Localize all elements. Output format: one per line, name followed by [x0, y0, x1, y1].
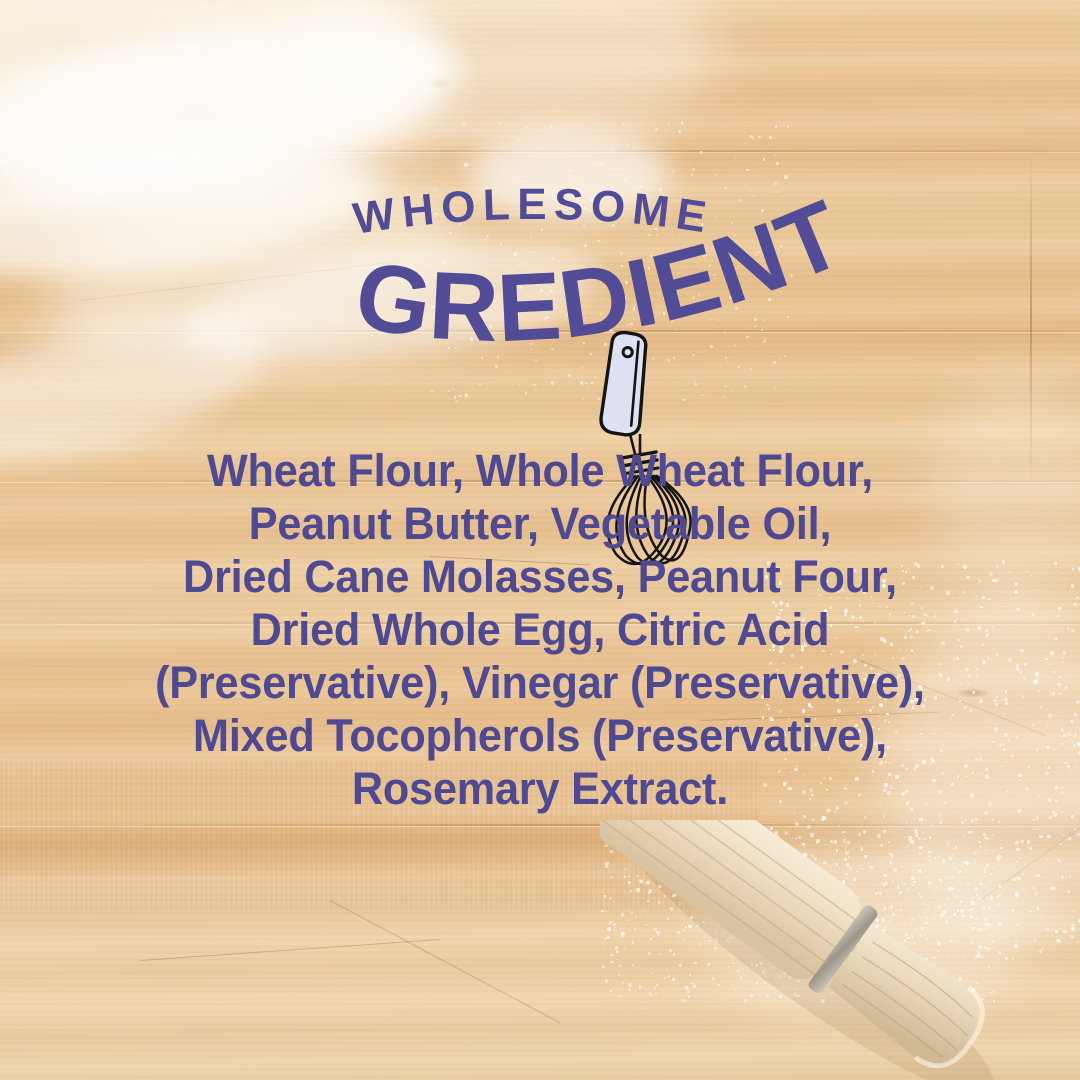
flour-speck — [1064, 762, 1067, 765]
flour-speck — [499, 121, 502, 124]
flour-speck — [716, 130, 718, 132]
flour-speck — [1065, 686, 1069, 690]
flour-speck — [1075, 577, 1076, 578]
flour-speck — [1050, 651, 1054, 655]
flour-speck — [599, 162, 602, 165]
flour-speck — [1058, 607, 1060, 609]
flour-speck — [1046, 746, 1050, 750]
flour-speck — [758, 140, 760, 142]
flour-speck — [773, 817, 774, 818]
flour-speck — [1062, 604, 1063, 605]
flour-speck — [1066, 579, 1068, 581]
flour-speck — [1048, 714, 1052, 718]
flour-speck — [1073, 603, 1076, 606]
flour-speck — [769, 145, 770, 146]
flour-speck — [1057, 615, 1059, 617]
flour-speck — [1061, 743, 1063, 745]
flour-speck — [695, 139, 696, 140]
flour-speck — [775, 126, 777, 128]
flour-speck — [1045, 772, 1049, 776]
ingredient-line: Peanut Butter, Vegetable Oil, — [60, 497, 1020, 550]
flour-speck — [622, 123, 624, 125]
flour-speck — [774, 154, 776, 156]
flour-speck — [1045, 631, 1047, 633]
flour-speck — [1067, 627, 1070, 630]
flour-speck — [1077, 667, 1079, 669]
flour-speck — [763, 158, 766, 161]
flour-speck — [455, 400, 458, 403]
ingredients-text-block: Wheat Flour, Whole Wheat Flour, Peanut B… — [40, 444, 1040, 815]
flour-speck — [517, 139, 520, 142]
flour-speck — [678, 130, 681, 133]
ingredient-line: Mixed Tocopherols (Preservative), — [60, 709, 1020, 762]
flour-speck — [641, 128, 642, 129]
flour-speck — [1061, 573, 1062, 574]
flour-speck — [1048, 816, 1052, 820]
flour-speck — [1061, 791, 1064, 794]
flour-speck — [776, 162, 779, 165]
ingredient-line: (Preservative), Vinegar (Preservative), — [60, 656, 1020, 709]
flour-speck — [734, 157, 736, 159]
flour-speck — [1060, 767, 1061, 768]
flour-speck — [561, 143, 564, 146]
flour-speck — [605, 166, 606, 167]
flour-speck — [883, 815, 886, 818]
flour-speck — [1046, 725, 1048, 727]
flour-speck — [1044, 762, 1046, 764]
ingredients-card: WHOLESOME INGREDIENTS — [0, 0, 1080, 1080]
flour-speck — [687, 141, 688, 142]
flour-speck — [1061, 787, 1063, 789]
flour-speck — [1072, 568, 1074, 570]
flour-speck — [1078, 767, 1079, 768]
flour-speck — [1048, 766, 1050, 768]
flour-speck — [773, 815, 774, 816]
flour-speck — [1059, 692, 1062, 695]
flour-speck — [1053, 671, 1055, 673]
flour-speck — [750, 125, 751, 126]
flour-speck — [536, 126, 537, 127]
flour-speck — [1055, 786, 1058, 789]
rolling-pin-illustration — [600, 820, 1080, 1080]
flour-speck — [1070, 720, 1073, 723]
flour-speck — [1061, 811, 1063, 813]
flour-speck — [607, 131, 608, 132]
ingredient-line: Wheat Flour, Whole Wheat Flour, — [60, 444, 1020, 497]
flour-speck — [968, 818, 969, 819]
flour-speck — [787, 125, 790, 128]
flour-speck — [1054, 587, 1055, 588]
flour-speck — [561, 149, 563, 151]
flour-speck — [1076, 700, 1080, 704]
flour-speck — [1060, 566, 1061, 567]
flour-speck — [481, 165, 482, 166]
flour-speck — [525, 126, 527, 128]
flour-speck — [1055, 800, 1058, 803]
flour-speck — [1067, 765, 1070, 768]
flour-speck — [504, 147, 506, 149]
flour-speck — [589, 145, 592, 148]
flour-speck — [1074, 735, 1076, 737]
flour-speck — [1048, 637, 1049, 638]
flour-speck — [752, 137, 755, 140]
flour-speck — [1073, 744, 1076, 747]
flour-speck — [464, 163, 467, 166]
ingredient-line: Dried Cane Molasses, Peanut Four, — [60, 550, 1020, 603]
flour-speck — [700, 151, 703, 154]
flour-speck — [1059, 676, 1061, 678]
flour-speck — [1071, 629, 1073, 631]
flour-speck — [628, 144, 630, 146]
flour-speck — [522, 132, 523, 133]
flour-speck — [1064, 688, 1065, 689]
flour-speck — [1054, 562, 1057, 565]
flour-speck — [1071, 815, 1074, 818]
flour-speck — [1040, 706, 1042, 708]
flour-speck — [1063, 661, 1064, 662]
flour-speck — [552, 128, 553, 129]
flour-speck — [723, 127, 725, 129]
ingredient-line: Dried Whole Egg, Citric Acid — [60, 603, 1020, 656]
flour-speck — [1046, 812, 1047, 813]
flour-speck — [1075, 765, 1076, 766]
flour-speck — [655, 128, 658, 131]
flour-speck — [614, 126, 615, 127]
flour-speck — [1067, 732, 1071, 736]
flour-speck — [779, 121, 781, 123]
header-arc-svg: WHOLESOME INGREDIENTS — [0, 168, 1080, 398]
flour-speck — [1075, 640, 1076, 641]
flour-speck — [685, 150, 686, 151]
flour-speck — [1053, 749, 1055, 751]
flour-speck — [585, 136, 586, 137]
flour-speck — [864, 816, 867, 819]
flour-speck — [1063, 730, 1065, 732]
flour-speck — [1063, 651, 1067, 655]
flour-speck — [769, 136, 771, 138]
flour-speck — [758, 136, 760, 138]
flour-speck — [1062, 657, 1064, 659]
flour-speck — [1069, 769, 1071, 771]
flour-speck — [610, 149, 612, 151]
flour-speck — [1045, 658, 1048, 661]
flour-speck — [640, 145, 641, 146]
flour-speck — [1052, 692, 1055, 695]
flour-speck — [1074, 713, 1077, 716]
flour-speck — [435, 163, 436, 164]
flour-speck — [1058, 683, 1061, 686]
flour-speck — [1048, 798, 1051, 801]
flour-speck — [1077, 592, 1078, 593]
flour-speck — [1046, 560, 1047, 561]
flour-speck — [1063, 734, 1066, 737]
flour-speck — [463, 123, 466, 126]
flour-speck — [1076, 596, 1079, 599]
flour-speck — [803, 815, 806, 818]
flour-speck — [1055, 637, 1058, 640]
flour-speck — [571, 145, 572, 146]
flour-speck — [588, 126, 590, 128]
flour-speck — [636, 127, 637, 128]
flour-speck — [524, 156, 525, 157]
ingredient-line: Rosemary Extract. — [60, 762, 1020, 815]
flour-speck — [1075, 732, 1077, 734]
flour-speck — [1060, 711, 1063, 714]
flour-speck — [545, 131, 546, 132]
flour-speck — [482, 147, 484, 149]
header-lockup: WHOLESOME INGREDIENTS — [0, 168, 1080, 398]
flour-speck — [668, 123, 670, 125]
flour-speck — [538, 147, 541, 150]
flour-speck — [433, 123, 434, 124]
